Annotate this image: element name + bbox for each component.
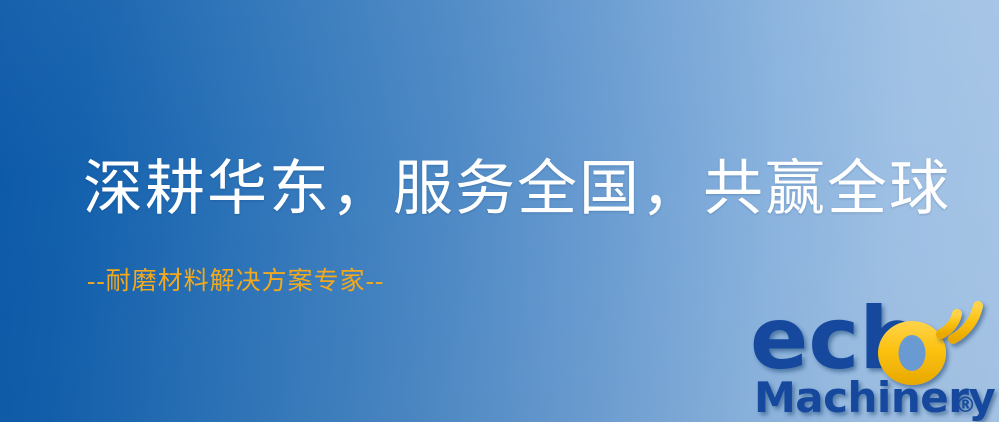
echo-machinery-logo[interactable]: ech Machinery ®	[750, 296, 999, 422]
registered-trademark-icon: ®	[955, 393, 976, 417]
banner-subtitle: --耐磨材料解决方案专家--	[87, 267, 384, 297]
logo-letter-o-counter	[899, 335, 926, 371]
banner-headline: 深耕华东，服务全国，共赢全球	[83, 152, 951, 226]
promotional-banner: 深耕华东，服务全国，共赢全球 --耐磨材料解决方案专家--	[0, 0, 999, 422]
logo-tagline-group: Machinery ®	[754, 373, 995, 422]
echo-wave-inner-arc	[941, 314, 957, 334]
echo-waves-icon	[941, 306, 978, 339]
